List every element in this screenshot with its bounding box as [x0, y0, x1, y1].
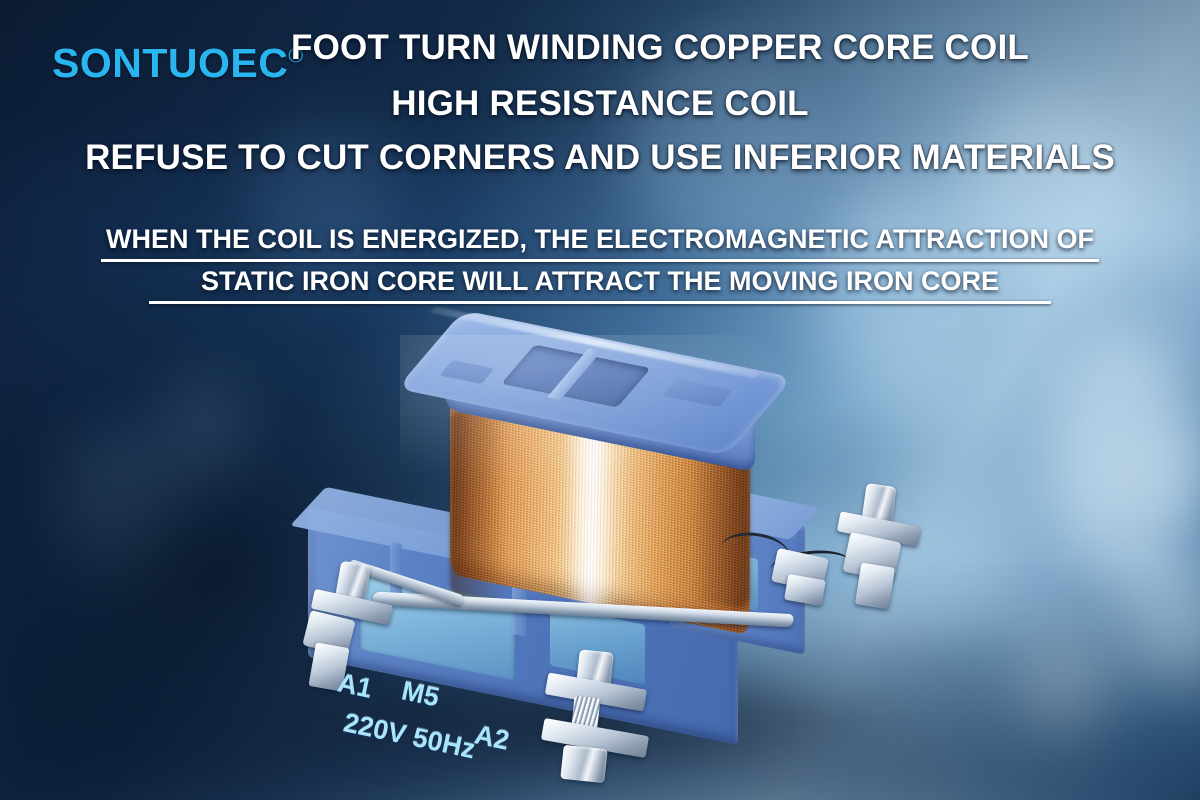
subheading-line-2-text: STATIC IRON CORE WILL ATTRACT THE MOVING… — [201, 266, 999, 304]
headline-line-3: REFUSE TO CUT CORNERS AND USE INFERIOR M… — [0, 138, 1200, 178]
banner-stage: SONTUOEC® FOOT TURN WINDING COPPER CORE … — [0, 0, 1200, 800]
subheading-line-1: WHEN THE COIL IS ENERGIZED, THE ELECTROM… — [0, 224, 1200, 262]
coil-shadow-left — [450, 409, 508, 611]
headline-line-2: HIGH RESISTANCE COIL — [0, 84, 1200, 124]
subheading-line-2: STATIC IRON CORE WILL ATTRACT THE MOVING… — [0, 266, 1200, 304]
headline-line-1: FOOT TURN WINDING COPPER CORE COIL — [0, 28, 1200, 68]
product-image-contactor-coil: A1 M5 220V 50Hz A2 — [250, 315, 950, 800]
subheading-line-1-text: WHEN THE COIL IS ENERGIZED, THE ELECTROM… — [106, 224, 1094, 262]
